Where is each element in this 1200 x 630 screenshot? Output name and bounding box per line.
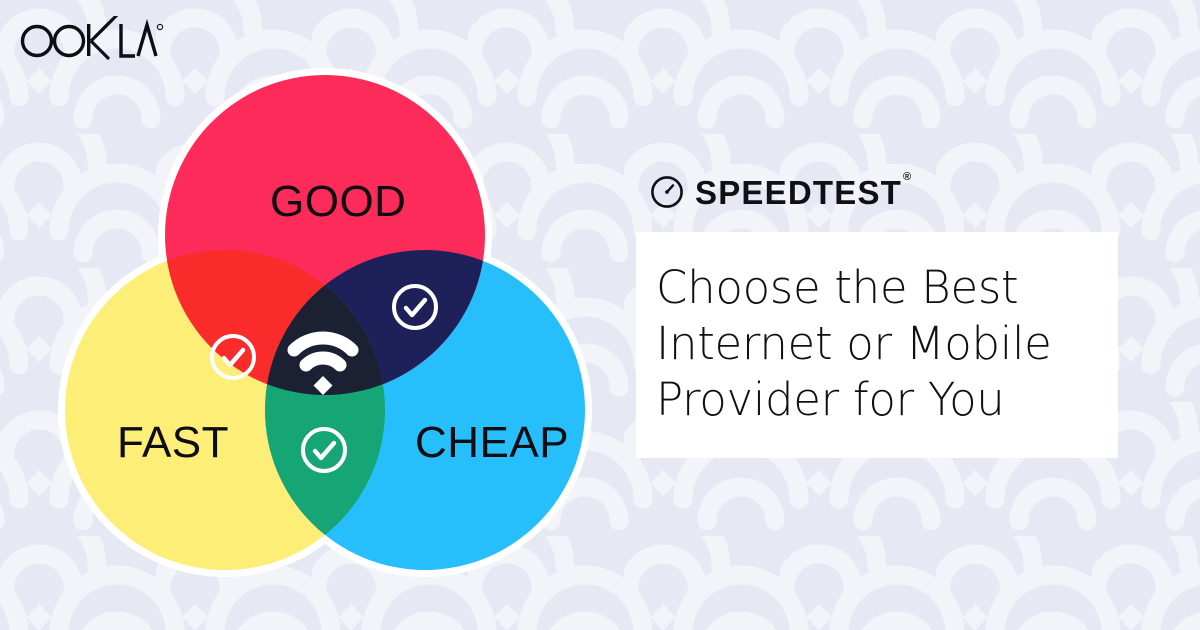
speedtest-wordmark: SPEEDTEST® <box>695 176 910 209</box>
poster-canvas: GOOD FAST CHEAP SPEEDTEST® Choose the Be… <box>0 0 1200 630</box>
right-content-column: SPEEDTEST® Choose the Best Internet or M… <box>636 170 1126 458</box>
speedtest-trademark: ® <box>903 171 911 183</box>
headline-line-2: Internet or Mobile <box>656 316 1118 372</box>
headline-card: Choose the Best Internet or Mobile Provi… <box>636 232 1118 458</box>
speedometer-icon <box>650 175 684 209</box>
page-title: Choose the Best Internet or Mobile Provi… <box>656 260 1118 428</box>
ookla-logo <box>14 16 164 62</box>
headline-line-3: Provider for You <box>656 372 1118 428</box>
headline-line-1: Choose the Best <box>656 260 1118 316</box>
venn-diagram <box>40 50 620 590</box>
speedtest-logo: SPEEDTEST® <box>636 170 1126 214</box>
speedtest-wordmark-text: SPEEDTEST <box>695 174 902 211</box>
